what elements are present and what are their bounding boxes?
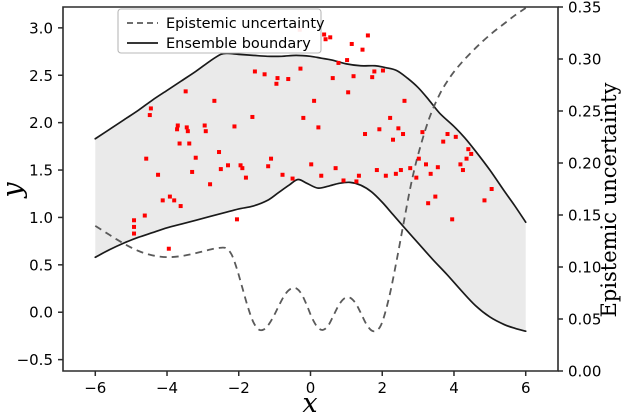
y-tick-label: 1.5 [29, 162, 53, 180]
x-tick-label: 2 [377, 379, 387, 397]
x-tick-label: −6 [84, 379, 106, 397]
y2-tick-label: 0.30 [568, 51, 601, 69]
x-tick-label: −4 [156, 379, 178, 397]
x-axis-title: x [302, 388, 317, 419]
x-tick-label: 6 [521, 379, 531, 397]
figure-canvas: −6−4−20246 −0.50.00.51.01.52.02.53.0 0.0… [0, 0, 630, 420]
x-tick-label: 4 [449, 379, 459, 397]
y-tick-label: 0.0 [29, 304, 53, 322]
legend-label: Ensemble boundary [166, 36, 311, 52]
chart-plot: −6−4−20246 −0.50.00.51.01.52.02.53.0 0.0… [0, 0, 630, 420]
y-tick-label: 2.0 [29, 114, 53, 132]
y-tick-label: 0.5 [29, 256, 53, 274]
y-axis-title: y [0, 182, 28, 199]
y-tick-label: 2.5 [29, 67, 53, 85]
y2-tick-label: 0.00 [568, 363, 601, 381]
legend-label: Epistemic uncertainty [166, 16, 325, 32]
y-tick-label: 3.0 [29, 19, 53, 37]
x-tick-label: −2 [228, 379, 250, 397]
chart-legend[interactable]: Epistemic uncertaintyEnsemble boundary [118, 9, 325, 53]
y2-axis-title: Epistemic uncertainty [597, 82, 621, 317]
y2-tick-label: 0.35 [568, 0, 601, 17]
y2-axis-ticks: 0.000.050.100.150.200.250.300.35 [558, 0, 601, 381]
y-tick-label: 1.0 [29, 209, 53, 227]
y-tick-label: −0.5 [17, 351, 53, 369]
